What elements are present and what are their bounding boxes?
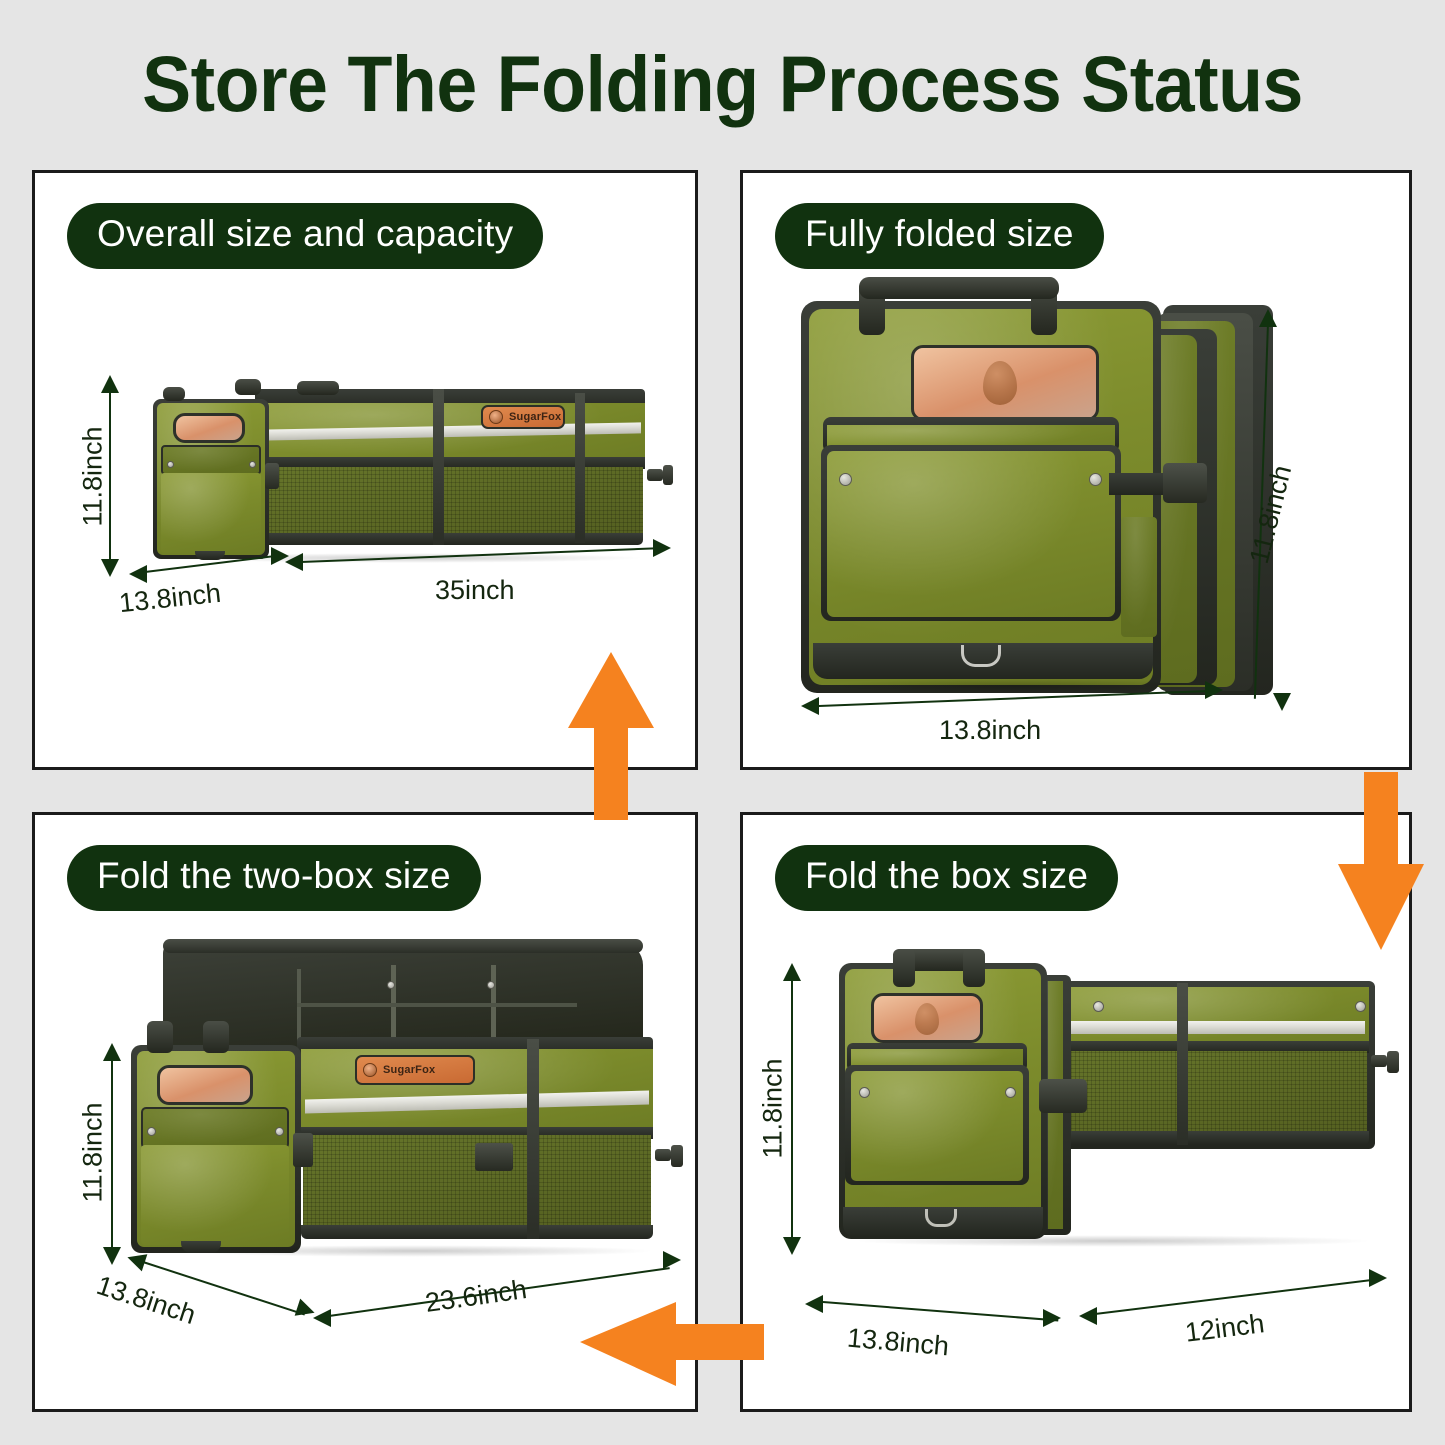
dim-arrow-right-6 (1043, 1309, 1061, 1327)
dim-line-height-3 (111, 1057, 113, 1249)
panel-fully-folded: Fully folded size (740, 170, 1412, 770)
dim-arrow-left-2 (285, 553, 303, 571)
page-title: Store The Folding Process Status (51, 38, 1395, 130)
brand-name: SugarFox (509, 411, 561, 423)
dim-arrow-down (101, 559, 119, 577)
dim-label-height: 11.8inch (78, 426, 109, 526)
dim-arrow-up-3 (103, 1043, 121, 1061)
dim-arrow-right-2 (653, 539, 671, 557)
dim-label-width: 35inch (435, 575, 515, 606)
leaf-logo-icon-2 (363, 1063, 377, 1077)
dim-line-height (109, 389, 111, 561)
dim-arrow-up-2 (1259, 309, 1277, 327)
dim-arrow-right-3 (1205, 681, 1223, 699)
flow-arrow-left (578, 1294, 764, 1390)
dim-label-width-2: 13.8inch (939, 715, 1041, 746)
dim-line-height-4 (791, 977, 793, 1239)
panel-one-box: Fold the box size (740, 812, 1412, 1412)
dim-arrow-down-4 (783, 1237, 801, 1255)
dim-arrow-right-5 (663, 1251, 681, 1269)
product-image-fully-folded (743, 173, 1412, 770)
dim-arrow-up (101, 375, 119, 393)
dim-arrow-down-3 (103, 1247, 121, 1265)
dim-arrow-left-5 (313, 1309, 331, 1327)
flow-arrow-down (1336, 772, 1426, 952)
dim-label-height-4: 11.8inch (758, 1058, 789, 1158)
product-image-one-box (743, 815, 1412, 1412)
flow-arrow-up (566, 650, 656, 820)
dim-arrow-left-6 (805, 1295, 823, 1313)
dim-arrow-up-4 (783, 963, 801, 981)
infographic-stage: Store The Folding Process Status Overall… (0, 0, 1445, 1445)
dim-arrow-right-7 (1369, 1269, 1387, 1287)
dim-arrow-left-7 (1079, 1307, 1097, 1325)
brand-name-2: SugarFox (383, 1064, 435, 1076)
dim-arrow-down-2 (1273, 693, 1291, 711)
dim-arrow-left (129, 565, 147, 583)
dim-label-height-3: 11.8inch (78, 1102, 109, 1202)
leaf-logo-icon (489, 410, 503, 424)
dim-arrow-left-3 (801, 697, 819, 715)
